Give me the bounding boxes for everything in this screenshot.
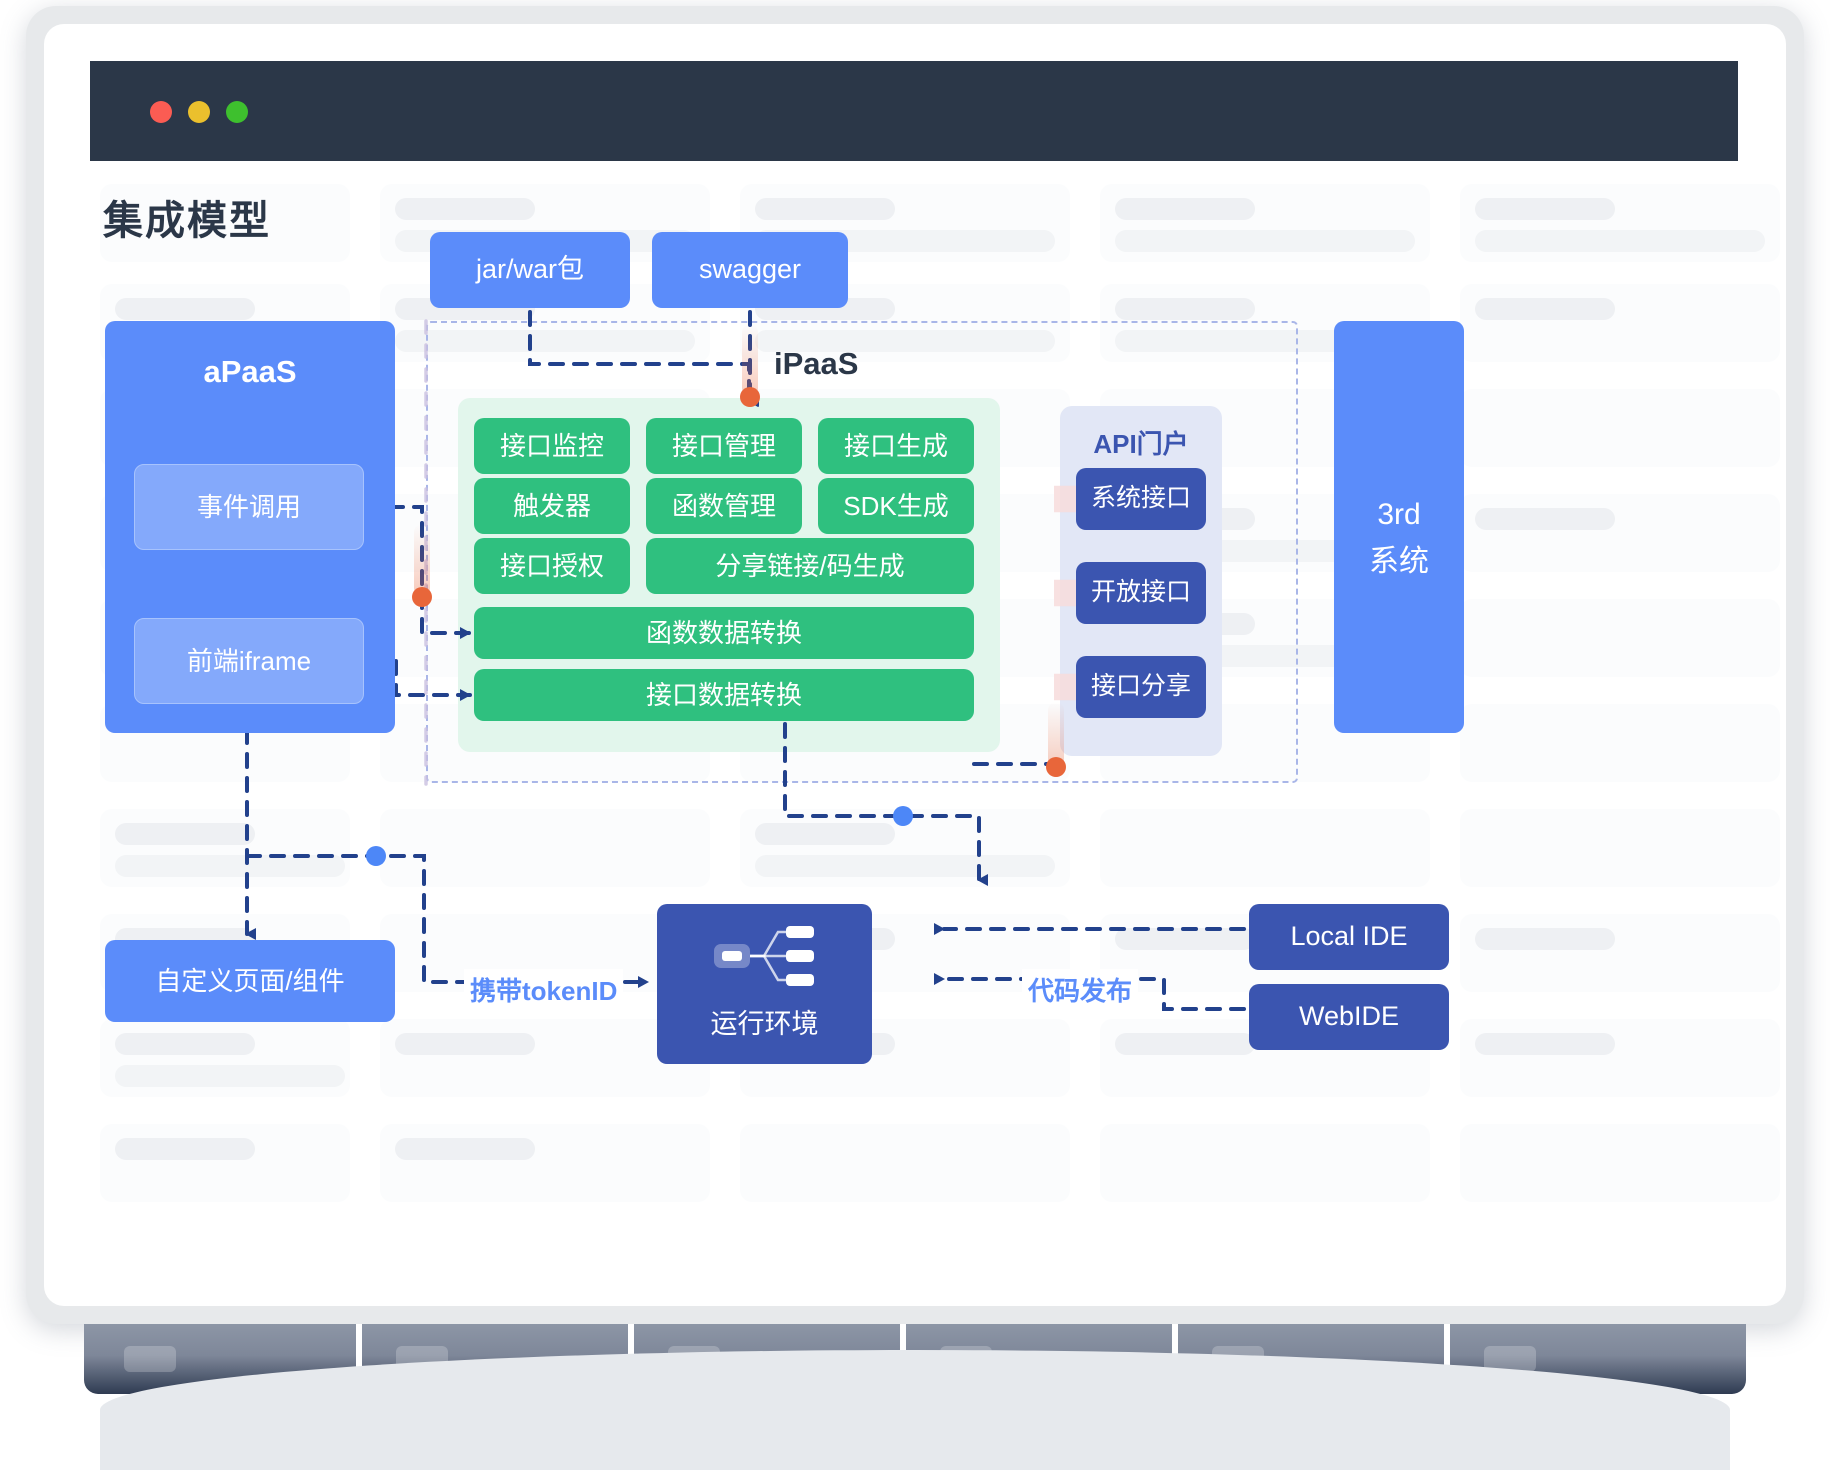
ipaas-capability-share-link[interactable]: 分享链接/码生成 bbox=[646, 538, 974, 594]
api-portal-item-open-api[interactable]: 开放接口 bbox=[1076, 562, 1206, 624]
edge-label-code-deploy: 代码发布 bbox=[1022, 969, 1138, 1010]
integration-model-diagram: 集成模型 iPaaS API门户 bbox=[44, 24, 1786, 1306]
runtime-environment-label: 运行环境 bbox=[657, 1002, 872, 1041]
third-party-line-1: 3rd bbox=[1334, 492, 1464, 539]
third-party-line-2: 系统 bbox=[1334, 539, 1464, 586]
ipaas-capability-sdk-generate[interactable]: SDK生成 bbox=[818, 478, 974, 534]
web-ide-node[interactable]: WebIDE bbox=[1249, 984, 1449, 1050]
ipaas-title: iPaaS bbox=[774, 346, 858, 382]
source-jar-war-node[interactable]: jar/war包 bbox=[430, 232, 630, 308]
laptop-stand-gloss bbox=[100, 1350, 1730, 1470]
ipaas-capability-api-generate[interactable]: 接口生成 bbox=[818, 418, 974, 474]
api-portal-title: API门户 bbox=[1060, 424, 1222, 461]
pulse-dot-swagger bbox=[740, 387, 760, 407]
ipaas-row-function-data-transform[interactable]: 函数数据转换 bbox=[474, 607, 974, 659]
custom-page-component-node[interactable]: 自定义页面/组件 bbox=[105, 940, 395, 1022]
ipaas-row-api-data-transform[interactable]: 接口数据转换 bbox=[474, 669, 974, 721]
third-party-system-label: 3rd 系统 bbox=[1334, 492, 1464, 585]
ipaas-capability-api-monitor[interactable]: 接口监控 bbox=[474, 418, 630, 474]
ipaas-capability-api-authorize[interactable]: 接口授权 bbox=[474, 538, 630, 594]
laptop-screen: 集成模型 iPaaS API门户 bbox=[44, 24, 1786, 1306]
apaas-item-frontend-iframe[interactable]: 前端iframe bbox=[134, 618, 364, 704]
pulse-dot-share bbox=[1046, 757, 1066, 777]
source-swagger-node[interactable]: swagger bbox=[652, 232, 848, 308]
local-ide-node[interactable]: Local IDE bbox=[1249, 904, 1449, 970]
page-title: 集成模型 bbox=[103, 188, 271, 246]
ipaas-capability-function-manage[interactable]: 函数管理 bbox=[646, 478, 802, 534]
api-portal-item-api-share[interactable]: 接口分享 bbox=[1076, 656, 1206, 718]
apaas-item-event-call[interactable]: 事件调用 bbox=[134, 464, 364, 550]
runtime-topology-icon bbox=[712, 922, 820, 988]
pulse-tail-event bbox=[414, 524, 430, 596]
api-portal-item-system-api[interactable]: 系统接口 bbox=[1076, 468, 1206, 530]
ipaas-capability-trigger[interactable]: 触发器 bbox=[474, 478, 630, 534]
route-dot-deploy bbox=[893, 806, 913, 826]
ipaas-capability-api-manage[interactable]: 接口管理 bbox=[646, 418, 802, 474]
edge-label-carry-token: 携带tokenID bbox=[464, 969, 623, 1010]
laptop-device-frame: 集成模型 iPaaS API门户 bbox=[26, 6, 1804, 1324]
pulse-dot-event bbox=[412, 587, 432, 607]
pulse-tail-swagger bbox=[742, 324, 758, 396]
route-dot-token bbox=[366, 846, 386, 866]
apaas-title: aPaaS bbox=[105, 354, 395, 390]
